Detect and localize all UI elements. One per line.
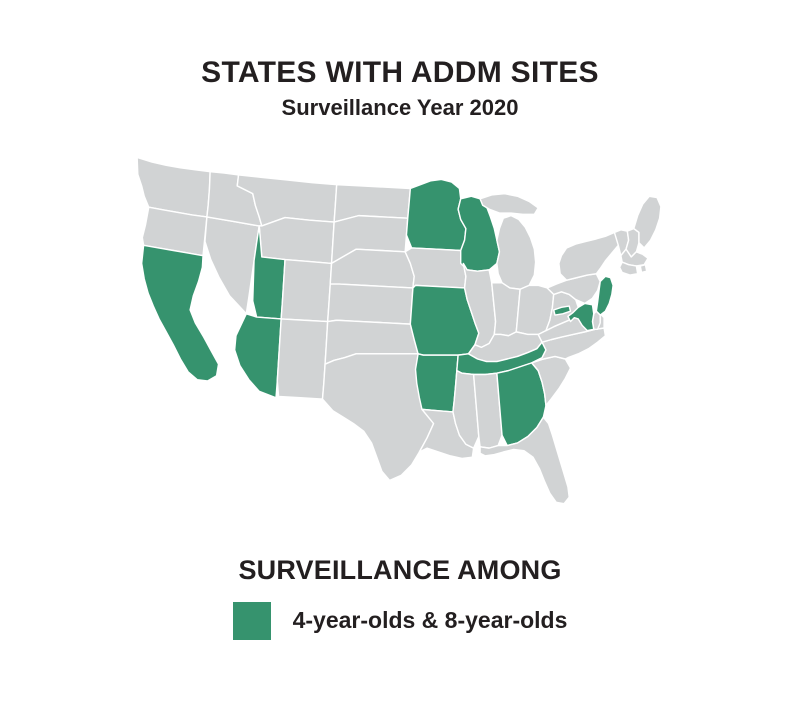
- state-AZ[interactable]: [235, 314, 282, 398]
- state-CO[interactable]: [281, 260, 331, 322]
- state-WY[interactable]: [259, 218, 334, 264]
- state-CA[interactable]: [142, 246, 219, 382]
- state-NV[interactable]: [205, 217, 259, 314]
- state-IN[interactable]: [492, 283, 520, 336]
- state-NY[interactable]: [559, 233, 621, 281]
- state-IA[interactable]: [405, 248, 466, 288]
- legend: SURVEILLANCE AMONG 4-year-olds & 8-year-…: [0, 556, 800, 640]
- state-KS[interactable]: [328, 284, 413, 324]
- page-subtitle: Surveillance Year 2020: [0, 95, 800, 120]
- legend-entry-label: 4-year-olds & 8-year-olds: [293, 609, 568, 632]
- legend-entry: 4-year-olds & 8-year-olds: [0, 602, 800, 640]
- state-MN[interactable]: [406, 180, 465, 251]
- legend-swatch-green: [233, 602, 271, 640]
- title-block: STATES WITH ADDM SITES Surveillance Year…: [0, 56, 800, 120]
- infographic-page: STATES WITH ADDM SITES Surveillance Year…: [0, 0, 800, 714]
- page-title: STATES WITH ADDM SITES: [0, 56, 800, 89]
- us-map-svg: [90, 128, 710, 528]
- legend-title: SURVEILLANCE AMONG: [0, 556, 800, 586]
- us-choropleth-map: [90, 128, 710, 528]
- state-MI[interactable]: [497, 216, 536, 290]
- state-AR[interactable]: [416, 354, 459, 412]
- state-NM[interactable]: [277, 319, 327, 399]
- state-RI[interactable]: [640, 265, 646, 273]
